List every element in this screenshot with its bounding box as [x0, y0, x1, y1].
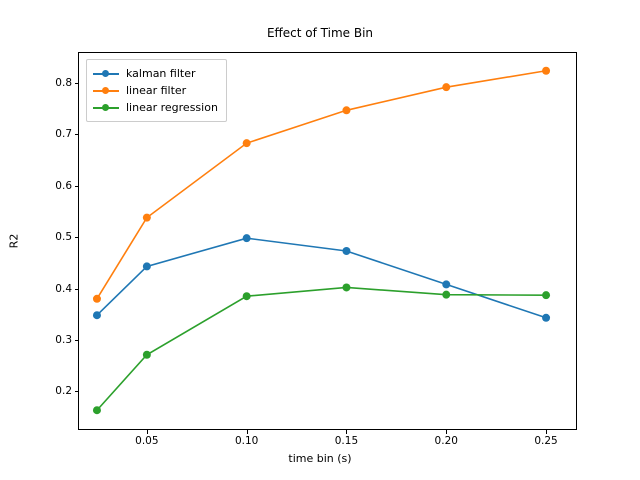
- data-point-marker: [93, 295, 101, 303]
- data-point-marker: [542, 67, 550, 75]
- legend-line-marker-icon: [93, 102, 119, 114]
- chart-title: Effect of Time Bin: [0, 26, 640, 40]
- data-point-marker: [342, 247, 350, 255]
- series-line: [97, 238, 546, 318]
- data-point-marker: [143, 351, 151, 359]
- y-axis-label: R2: [8, 234, 21, 249]
- data-point-marker: [93, 406, 101, 414]
- legend-item-kalman-filter[interactable]: kalman filter: [93, 65, 218, 82]
- y-tick-label: 0.2: [32, 385, 72, 397]
- y-tick-label: 0.4: [32, 283, 72, 295]
- x-tick-label: 0.15: [316, 435, 376, 447]
- data-point-marker: [143, 214, 151, 222]
- figure-canvas: Effect of Time Bin R2 time bin (s) 0.20.…: [0, 0, 640, 480]
- y-tick-label: 0.5: [32, 231, 72, 243]
- legend: kalman filter linear filter linear regre…: [86, 59, 227, 122]
- y-tick-label: 0.7: [32, 128, 72, 140]
- legend-label: linear filter: [126, 84, 186, 97]
- x-tick-label: 0.25: [516, 435, 576, 447]
- data-point-marker: [342, 106, 350, 114]
- legend-label: kalman filter: [126, 67, 196, 80]
- data-point-marker: [442, 83, 450, 91]
- legend-item-linear-regression[interactable]: linear regression: [93, 99, 218, 116]
- series-line: [97, 287, 546, 410]
- data-point-marker: [342, 283, 350, 291]
- legend-line-marker-icon: [93, 85, 119, 97]
- data-point-marker: [542, 314, 550, 322]
- data-point-marker: [243, 292, 251, 300]
- y-tick-label: 0.3: [32, 334, 72, 346]
- x-tick-mark: [446, 430, 447, 434]
- x-axis-label: time bin (s): [0, 452, 640, 465]
- x-tick-label: 0.10: [217, 435, 277, 447]
- data-point-marker: [442, 280, 450, 288]
- legend-line-marker-icon: [93, 68, 119, 80]
- x-tick-mark: [546, 430, 547, 434]
- data-point-marker: [243, 139, 251, 147]
- legend-label: linear regression: [126, 101, 218, 114]
- y-tick-label: 0.8: [32, 77, 72, 89]
- y-tick-label: 0.6: [32, 180, 72, 192]
- legend-item-linear-filter[interactable]: linear filter: [93, 82, 218, 99]
- data-point-marker: [143, 262, 151, 270]
- data-point-marker: [442, 291, 450, 299]
- x-tick-mark: [147, 430, 148, 434]
- x-tick-mark: [346, 430, 347, 434]
- data-point-marker: [243, 234, 251, 242]
- data-point-marker: [542, 291, 550, 299]
- data-point-marker: [93, 311, 101, 319]
- x-tick-label: 0.20: [416, 435, 476, 447]
- x-tick-label: 0.05: [117, 435, 177, 447]
- x-tick-mark: [247, 430, 248, 434]
